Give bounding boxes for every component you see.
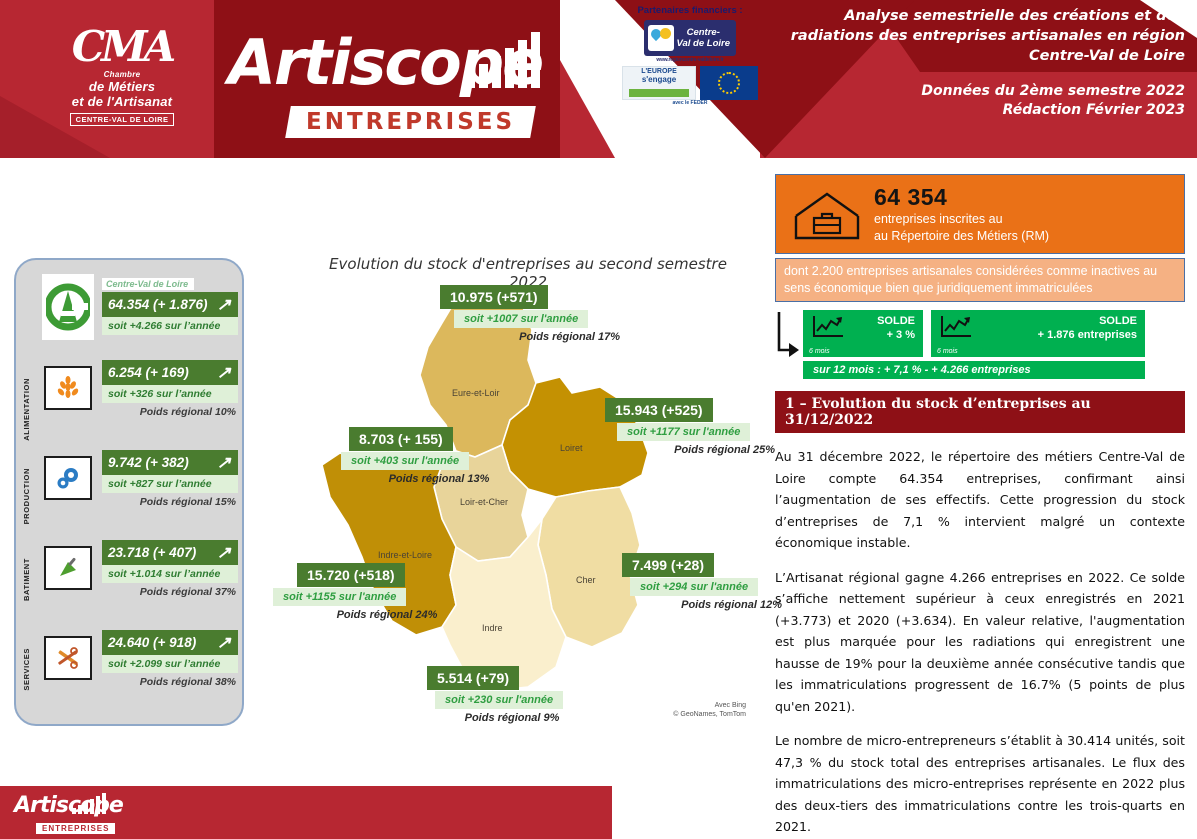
section-1-heading: 1 – Evolution du stock d’entreprises au … xyxy=(775,391,1185,433)
map-label-indre: Indre xyxy=(482,623,503,633)
sidebar-bars-region: Centre-Val de Loire 64.354 (+ 1.876) ↗ s… xyxy=(102,274,238,335)
map-callout-indre-et-loire: 15.720 (+518) soit +1155 sur l'année Poi… xyxy=(297,563,477,621)
kpi-desc-2: au Répertoire des Métiers (RM) xyxy=(874,228,1049,245)
sidebar-region-main-value: 64.354 (+ 1.876) xyxy=(108,297,207,312)
header-redaction-date: Rédaction Février 2023 xyxy=(785,101,1185,120)
header-main-title: Analyse semestrielle des créations et de… xyxy=(785,6,1185,66)
sidebar-bars-services: 24.640 (+ 918) ↗ soit +2.099 sur l’année… xyxy=(102,630,238,688)
callout-sub-indre: soit +230 sur l'année xyxy=(435,691,563,709)
eu-stars-icon xyxy=(718,72,740,94)
section-1-paragraph-2: L’Artisanat régional gagne 4.266 entrepr… xyxy=(775,567,1185,718)
eu-logos-row: L'EUROPE s'engage xyxy=(600,66,780,100)
solde-percent-text: SOLDE + 3 % xyxy=(877,314,915,342)
cma-region-badge: CENTRE-VAL DE LOIRE xyxy=(70,113,175,126)
sector-stats-sidebar: Centre-Val de Loire 64.354 (+ 1.876) ↗ s… xyxy=(14,258,244,726)
solde-percent-period: 6 mois xyxy=(809,348,830,355)
sidebar-services-main: 24.640 (+ 918) ↗ xyxy=(102,630,238,655)
eu-logo-green-bar xyxy=(629,89,689,97)
solde-row: SOLDE + 3 % 6 mois SOLDE + 1.876 entrepr… xyxy=(775,310,1185,357)
solde-count-text: SOLDE + 1.876 entreprises xyxy=(1038,314,1137,342)
solde-percent-box: SOLDE + 3 % 6 mois xyxy=(803,310,923,357)
solde-count-box: SOLDE + 1.876 entreprises 6 mois xyxy=(931,310,1145,357)
gears-icon xyxy=(44,456,92,500)
callout-sub-indre-et-loire: soit +1155 sur l'année xyxy=(273,588,406,606)
map-label-eure-et-loir: Eure-et-Loir xyxy=(452,388,500,398)
sidebar-batiment-sub: soit +1.014 sur l’année xyxy=(102,565,238,583)
sidebar-region-main: 64.354 (+ 1.876) ↗ xyxy=(102,292,238,317)
solde-count-period: 6 mois xyxy=(937,348,958,355)
map-label-cher: Cher xyxy=(576,575,596,585)
callout-poids-loir-et-cher: Poids régional 13% xyxy=(349,470,529,485)
trend-up-arrow-icon: ↗ xyxy=(217,633,231,653)
sidebar-production-main: 9.742 (+ 382) ↗ xyxy=(102,450,238,475)
callout-main-indre-et-loire: 15.720 (+518) xyxy=(297,563,405,587)
partners-title: Partenaires financiers : xyxy=(600,5,780,16)
arrow-connector-icon xyxy=(775,310,803,360)
eu-flag-block xyxy=(700,66,758,100)
callout-sub-loiret: soit +1177 sur l'année xyxy=(617,423,750,441)
growth-bars-icon xyxy=(466,30,540,88)
kpi-desc-1: entreprises inscrites au xyxy=(874,211,1049,228)
trend-up-arrow-icon: ↗ xyxy=(217,543,231,563)
footer-artiscope-logo: Artiscope ENTREPRISES xyxy=(14,794,123,836)
inactive-companies-note: dont 2.200 entreprises artisanales consi… xyxy=(775,258,1185,302)
sidebar-services-sub: soit +2.099 sur l’année xyxy=(102,655,238,673)
page-footer: Artiscope ENTREPRISES xyxy=(0,786,612,839)
map-callout-cher: 7.499 (+28) soit +294 sur l'année Poids … xyxy=(622,553,782,611)
growth-bars-icon xyxy=(72,792,106,814)
header-data-period: Données du 2ème semestre 2022 xyxy=(785,82,1185,101)
cma-line3: et de l'Artisanat xyxy=(62,94,182,109)
trowel-icon xyxy=(44,546,92,590)
sidebar-label-alimentation: ALIMENTATION xyxy=(22,378,31,441)
sidebar-alimentation-main: 6.254 (+ 169) ↗ xyxy=(102,360,238,385)
sidebar-bars-alimentation: 6.254 (+ 169) ↗ soit +326 sur l’année Po… xyxy=(102,360,238,418)
map-label-loiret: Loiret xyxy=(560,443,583,453)
region-centre-val-de-loire-logo: Centre- Val de Loire xyxy=(644,20,736,56)
callout-main-loiret: 15.943 (+525) xyxy=(605,398,713,422)
sidebar-batiment-main-value: 23.718 (+ 407) xyxy=(108,545,196,560)
kpi-number: 64 354 xyxy=(874,184,1049,211)
callout-poids-cher: Poids régional 12% xyxy=(622,596,782,611)
callout-main-loir-et-cher: 8.703 (+ 155) xyxy=(349,427,453,451)
sidebar-label-services: SERVICES xyxy=(22,648,31,691)
heart-bird-icon xyxy=(648,25,674,51)
section-1-paragraph-1: Au 31 décembre 2022, le répertoire des m… xyxy=(775,446,1185,554)
sidebar-batiment-poids: Poids régional 37% xyxy=(102,586,238,598)
callout-poids-indre: Poids régional 9% xyxy=(427,709,597,724)
footer-wordmark: Artiscope xyxy=(14,794,123,818)
map-callout-eure-et-loir: 10.975 (+571) soit +1007 sur l'année Poi… xyxy=(440,285,620,343)
page-header: CMA Chambre de Métiers et de l'Artisanat… xyxy=(0,0,1197,158)
cma-monogram: CMA xyxy=(62,24,182,70)
solde-percent-label: SOLDE xyxy=(877,314,915,328)
trend-up-arrow-icon: ↗ xyxy=(217,295,231,315)
map-callout-indre: 5.514 (+79) soit +230 sur l'année Poids … xyxy=(427,666,597,724)
header-subtitle: Données du 2ème semestre 2022 Rédaction … xyxy=(785,82,1185,120)
callout-sub-eure-et-loir: soit +1007 sur l'année xyxy=(454,310,588,328)
artiscope-subtitle-plate: ENTREPRISES xyxy=(285,106,536,138)
line-chart-icon xyxy=(811,314,845,340)
sidebar-region-sub: soit +4.266 sur l’année xyxy=(102,317,238,335)
sidebar-bars-batiment: 23.718 (+ 407) ↗ soit +1.014 sur l’année… xyxy=(102,540,238,598)
map-attribution-sources: © GeoNames, TomTom xyxy=(673,710,746,719)
callout-sub-cher: soit +294 sur l'année xyxy=(630,578,758,596)
sidebar-alimentation-sub: soit +326 sur l’année xyxy=(102,385,238,403)
solde-count-label: SOLDE xyxy=(1038,314,1137,328)
map-label-indre-et-loire: Indre-et-Loire xyxy=(378,550,432,560)
partners-block: Partenaires financiers : Centre- Val de … xyxy=(600,5,780,106)
region-logo-url: www.regioncentre-valdeloire.fr xyxy=(600,57,780,63)
right-panel: 64 354 entreprises inscrites au au Réper… xyxy=(775,174,1185,838)
eu-fund-label: avec le FEDER xyxy=(600,100,780,106)
section-1-paragraph-3: Le nombre de micro-entrepreneurs s’établ… xyxy=(775,730,1185,838)
a-mark-icon xyxy=(46,281,90,333)
map-callout-loiret: 15.943 (+525) soit +1177 sur l'année Poi… xyxy=(605,398,775,456)
eu-flag-icon xyxy=(700,66,758,100)
callout-main-indre: 5.514 (+79) xyxy=(427,666,519,690)
line-chart-icon xyxy=(939,314,973,340)
callout-main-eure-et-loir: 10.975 (+571) xyxy=(440,285,548,309)
scissors-comb-icon xyxy=(44,636,92,680)
sidebar-production-sub: soit +827 sur l’année xyxy=(102,475,238,493)
kpi-text: 64 354 entreprises inscrites au au Réper… xyxy=(874,184,1049,245)
leurope-sengage-logo: L'EUROPE s'engage xyxy=(622,66,696,100)
callout-sub-loir-et-cher: soit +403 sur l'année xyxy=(341,452,469,470)
twelve-month-banner: sur 12 mois : + 7,1 % - + 4.266 entrepri… xyxy=(803,361,1145,379)
solde-count-value: + 1.876 entreprises xyxy=(1038,328,1137,342)
artiscope-subtitle: ENTREPRISES xyxy=(306,109,515,135)
kpi-orange-box: 64 354 entreprises inscrites au au Réper… xyxy=(775,174,1185,254)
callout-poids-loiret: Poids régional 25% xyxy=(605,441,775,456)
artiscope-a-logo xyxy=(42,274,94,340)
artiscope-brand: Artiscope ENTREPRISES xyxy=(228,28,548,138)
cma-line1: Chambre xyxy=(62,70,182,79)
sidebar-production-poids: Poids régional 15% xyxy=(102,496,238,508)
wheat-icon xyxy=(44,366,92,410)
map-attribution: Avec Bing © GeoNames, TomTom xyxy=(673,701,746,719)
trend-up-arrow-icon: ↗ xyxy=(217,363,231,383)
sidebar-label-production: PRODUCTION xyxy=(22,468,31,524)
solde-percent-value: + 3 % xyxy=(877,328,915,342)
sidebar-label-batiment: BATIMENT xyxy=(22,558,31,601)
callout-poids-eure-et-loir: Poids régional 17% xyxy=(440,328,620,343)
sidebar-alimentation-poids: Poids régional 10% xyxy=(102,406,238,418)
sidebar-services-main-value: 24.640 (+ 918) xyxy=(108,635,196,650)
eu-line2: s'engage xyxy=(623,75,695,84)
sidebar-bars-production: 9.742 (+ 382) ↗ soit +827 sur l’année Po… xyxy=(102,450,238,508)
callout-main-cher: 7.499 (+28) xyxy=(622,553,714,577)
sidebar-services-poids: Poids régional 38% xyxy=(102,676,238,688)
callout-poids-indre-et-loire: Poids régional 24% xyxy=(297,606,477,621)
map-label-loir-et-cher: Loir-et-Cher xyxy=(460,497,508,507)
cma-line2: de Métiers xyxy=(62,79,182,94)
sidebar-batiment-main: 23.718 (+ 407) ↗ xyxy=(102,540,238,565)
sidebar-production-main-value: 9.742 (+ 382) xyxy=(108,455,189,470)
footer-subtitle: ENTREPRISES xyxy=(36,823,115,834)
map-attribution-provider: Avec Bing xyxy=(673,701,746,710)
trend-up-arrow-icon: ↗ xyxy=(217,453,231,473)
cma-logo: CMA Chambre de Métiers et de l'Artisanat… xyxy=(62,24,182,144)
sidebar-alimentation-main-value: 6.254 (+ 169) xyxy=(108,365,189,380)
region-logo-label: Centre- Val de Loire xyxy=(677,27,731,49)
workshop-house-icon xyxy=(790,186,864,242)
map-callout-loir-et-cher: 8.703 (+ 155) soit +403 sur l'année Poid… xyxy=(349,427,529,485)
eu-line1: L'EUROPE xyxy=(623,68,695,75)
sidebar-region-caption: Centre-Val de Loire xyxy=(102,278,194,290)
